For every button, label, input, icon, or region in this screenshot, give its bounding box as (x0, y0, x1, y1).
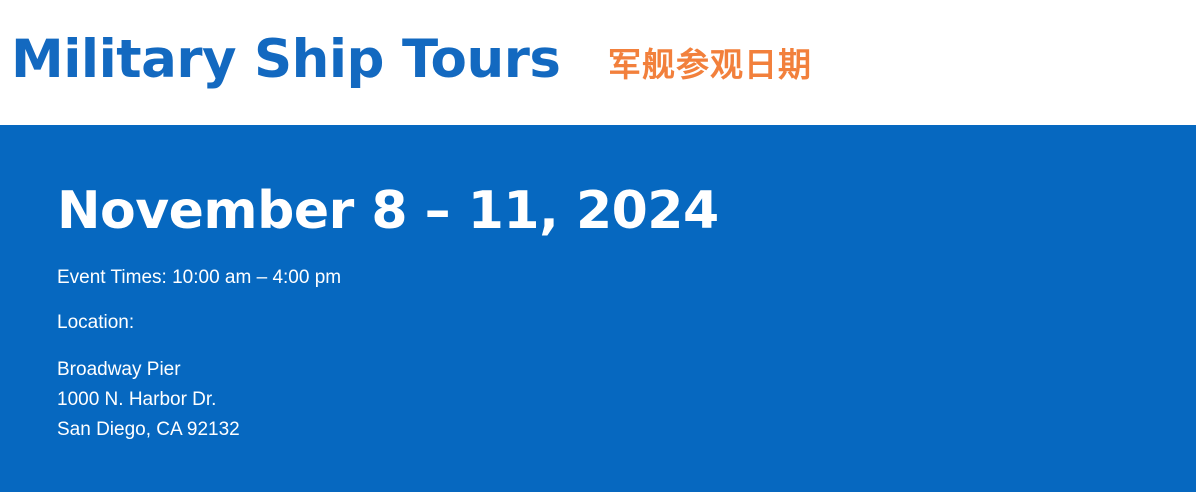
header-band: Military Ship Tours 军舰参观日期 (0, 0, 1196, 125)
address-street: 1000 N. Harbor Dr. (57, 385, 657, 415)
page-title-chinese: 军舰参观日期 (608, 44, 812, 86)
event-times-line: Event Times: 10:00 am – 4:00 pm (57, 265, 341, 291)
page-title: Military Ship Tours (11, 26, 560, 94)
event-details-band: November 8 – 11, 2024 Event Times: 10:00… (0, 125, 1196, 492)
address-city-state-zip: San Diego, CA 92132 (57, 415, 657, 445)
location-label: Location: (57, 310, 134, 336)
event-address: Broadway Pier 1000 N. Harbor Dr. San Die… (57, 355, 657, 445)
event-date-heading: November 8 – 11, 2024 (57, 178, 719, 244)
address-venue: Broadway Pier (57, 355, 657, 385)
